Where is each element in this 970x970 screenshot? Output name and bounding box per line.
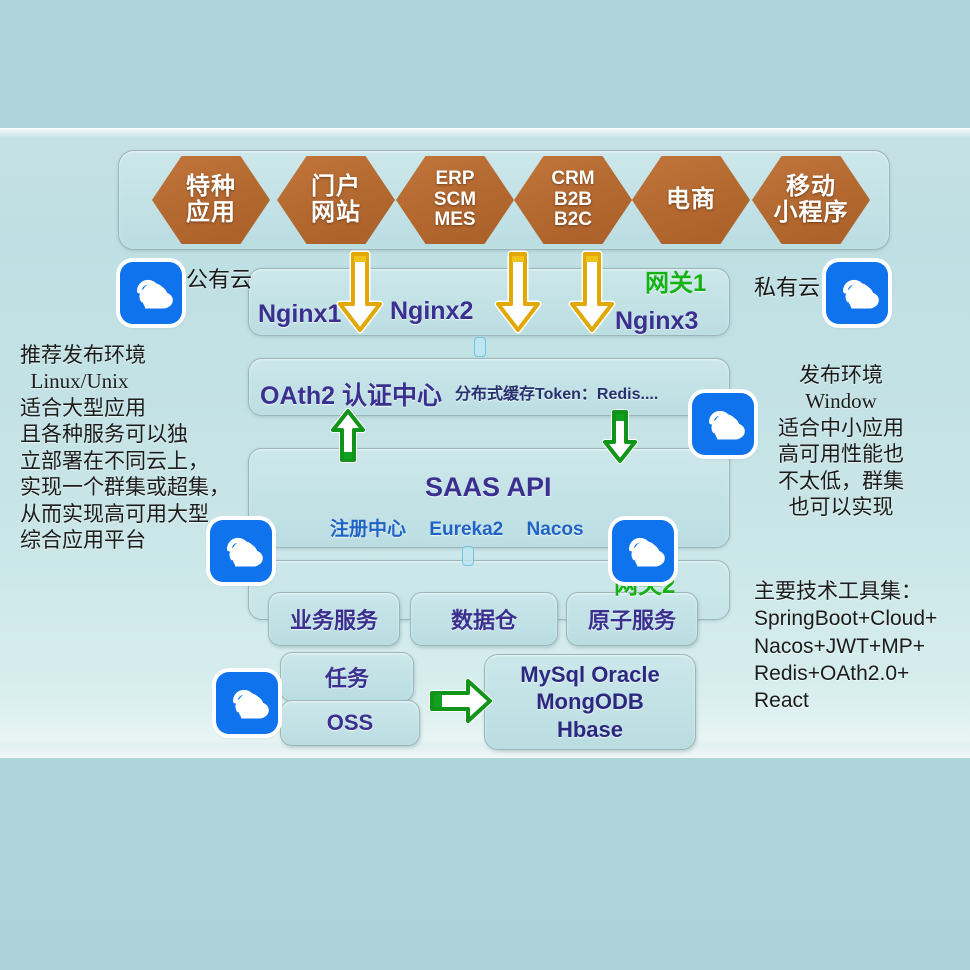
- cloud-icon[interactable]: [120, 262, 182, 324]
- nginx3-label[interactable]: Nginx3: [615, 307, 698, 336]
- hex-line: ERP: [435, 169, 474, 190]
- saas-api-title: SAAS API: [425, 472, 552, 503]
- database-line: MySql Oracle: [520, 661, 659, 689]
- auth-center-subtitle: 分布式缓存Token：Redis....: [455, 380, 658, 404]
- database-box[interactable]: MySql Oracle MongODB Hbase: [484, 654, 696, 750]
- down-arrow-yellow-icon: [494, 250, 542, 336]
- cloud-icon[interactable]: [692, 393, 754, 455]
- service-oss[interactable]: OSS: [280, 700, 420, 746]
- service-atomic[interactable]: 原子服务: [566, 592, 698, 646]
- public-cloud-label: 公有云: [186, 262, 252, 294]
- gateway1-label: 网关1: [645, 263, 706, 298]
- service-business[interactable]: 业务服务: [268, 592, 400, 646]
- hex-line: 移动: [786, 174, 836, 200]
- panel-top-glow: [0, 128, 970, 138]
- registry-eureka: Eureka2: [429, 519, 503, 540]
- registry-center-label: 注册中心: [330, 519, 406, 540]
- database-line: Hbase: [557, 716, 623, 744]
- hex-line: 电商: [666, 187, 716, 213]
- hex-line: 网站: [311, 200, 361, 226]
- hex-line: B2C: [554, 210, 592, 231]
- nginx1-label[interactable]: Nginx1: [258, 300, 341, 329]
- service-datawarehouse[interactable]: 数据仓: [410, 592, 558, 646]
- registry-nacos: Nacos: [527, 519, 584, 540]
- cloud-icon[interactable]: [826, 262, 888, 324]
- nginx2-label[interactable]: Nginx2: [390, 297, 473, 326]
- cloud-icon[interactable]: [216, 672, 278, 734]
- right-note-text: 发布环境 Window 适合中小应用 高可用性能也 不太低，群集 也可以实现: [778, 362, 904, 521]
- database-line: MongODB: [536, 688, 644, 716]
- hex-line: CRM: [551, 169, 594, 190]
- down-arrow-green-icon: [602, 408, 638, 464]
- right-arrow-green-icon: [428, 675, 494, 727]
- up-arrow-green-icon: [330, 408, 366, 464]
- connector-stub: [474, 337, 486, 357]
- hex-line: 门户: [311, 174, 361, 200]
- cloud-icon[interactable]: [612, 520, 674, 582]
- down-arrow-yellow-icon: [336, 250, 384, 336]
- diagram-canvas: 特种 应用 门户 网站 ERP SCM MES CRM B2B B2C 电商 移…: [0, 0, 970, 970]
- left-note-text: 推荐发布环境 Linux/Unix 适合大型应用 且各种服务可以独 立部署在不同…: [20, 342, 230, 554]
- hex-line: MES: [434, 210, 475, 231]
- hex-line: SCM: [434, 190, 476, 211]
- tech-stack-note-text: 主要技术工具集： SpringBoot+Cloud+ Nacos+JWT+MP+…: [754, 578, 937, 714]
- hex-line: B2B: [554, 190, 592, 211]
- cloud-icon[interactable]: [210, 520, 272, 582]
- hex-line: 应用: [186, 200, 236, 226]
- down-arrow-yellow-icon: [568, 250, 616, 336]
- service-task[interactable]: 任务: [280, 652, 414, 702]
- connector-stub: [462, 546, 474, 566]
- auth-center-title: OAth2 认证中心: [260, 376, 442, 412]
- panel-bottom-glow: [0, 744, 970, 758]
- saas-registry-row: 注册中心 Eureka2 Nacos: [330, 514, 602, 541]
- hex-line: 特种: [186, 174, 236, 200]
- private-cloud-label: 私有云: [754, 270, 820, 302]
- hex-line: 小程序: [774, 200, 849, 226]
